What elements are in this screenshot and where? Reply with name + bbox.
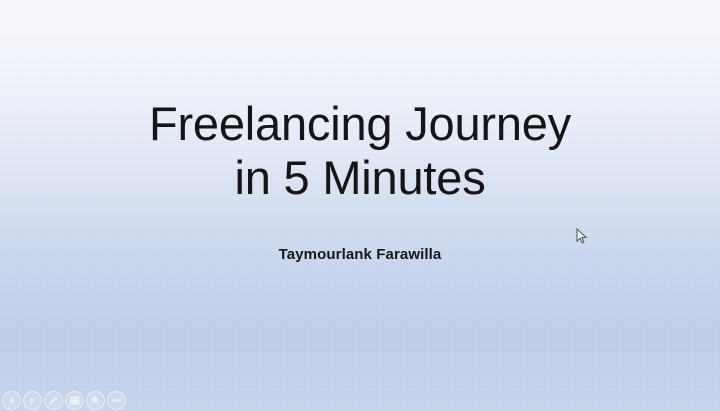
triangle-right-icon <box>28 396 37 405</box>
slideshow-control-bar[interactable] <box>2 391 126 410</box>
all-slides-button[interactable] <box>65 391 84 410</box>
pen-tools-button[interactable] <box>44 391 63 410</box>
arrow-cursor-icon <box>576 228 588 246</box>
next-slide-button[interactable] <box>23 391 42 410</box>
ellipsis-icon <box>111 395 122 406</box>
slide-subtitle-author: Taymourlank Farawilla <box>0 245 720 264</box>
zoom-slide-button[interactable] <box>86 391 105 410</box>
triangle-left-icon <box>7 396 16 405</box>
slide-title-line-1: Freelancing Journey <box>0 97 720 151</box>
slide-title-line-2: in 5 Minutes <box>0 151 720 205</box>
grid-icon <box>69 395 80 406</box>
slide-background-texture <box>0 0 720 411</box>
pen-icon <box>48 395 59 406</box>
slide-title: Freelancing Journey in 5 Minutes <box>0 97 720 205</box>
magnifier-icon <box>90 395 101 406</box>
presentation-slide[interactable]: Freelancing Journey in 5 Minutes Taymour… <box>0 0 720 411</box>
previous-slide-button[interactable] <box>2 391 21 410</box>
more-options-button[interactable] <box>107 391 126 410</box>
